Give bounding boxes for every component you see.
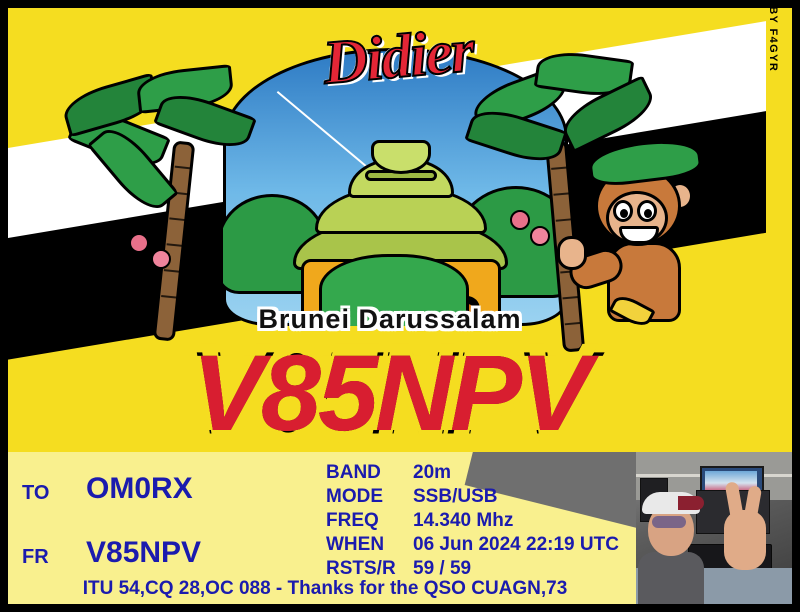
band-label: BAND [326, 462, 381, 484]
logo-credit-strip: LOGO BY F4GYR [766, 8, 792, 452]
freq-value: 14.340 Mhz [413, 510, 513, 532]
monkey-eye-right [637, 200, 657, 222]
qsl-card: Didier Brunei Darussalam V85NPV V85NPV L… [0, 0, 800, 612]
hibiscus-flower-icon [530, 226, 550, 246]
to-label: TO [22, 482, 49, 505]
monkey-smile [619, 226, 659, 244]
hibiscus-flower-icon [129, 233, 149, 253]
fr-callsign-value: V85NPV [86, 536, 201, 570]
qso-info-panel: TO OM0RX FR V85NPV BAND 20m MODE SSB/USB… [8, 452, 792, 604]
monkey-thumbs-up-hand [557, 236, 587, 270]
logo-credit-text: LOGO BY F4GYR [767, 8, 779, 72]
monkey-eye-left [613, 200, 633, 222]
monkey-face [606, 191, 668, 245]
when-label: WHEN [326, 534, 384, 556]
artist-script-logo: Didier [320, 16, 475, 100]
fr-label: FR [22, 546, 49, 569]
mode-value: SSB/USB [413, 486, 497, 508]
to-callsign-value: OM0RX [86, 472, 193, 506]
band-value: 20m [413, 462, 451, 484]
qsl-artwork-panel: Didier Brunei Darussalam V85NPV V85NPV [8, 8, 772, 452]
freq-label: FREQ [326, 510, 379, 532]
when-value: 06 Jun 2024 22:19 UTC [413, 534, 619, 556]
mode-label: MODE [326, 486, 383, 508]
rst-value: 59 / 59 [413, 558, 471, 580]
hibiscus-flower-icon [151, 249, 171, 269]
hibiscus-flower-icon [510, 210, 530, 230]
callsign-heading: V85NPV [8, 330, 772, 452]
qso-footer-note: ITU 54,CQ 28,OC 088 - Thanks for the QSO… [8, 578, 792, 600]
rst-label: RSTS/R [326, 558, 396, 580]
